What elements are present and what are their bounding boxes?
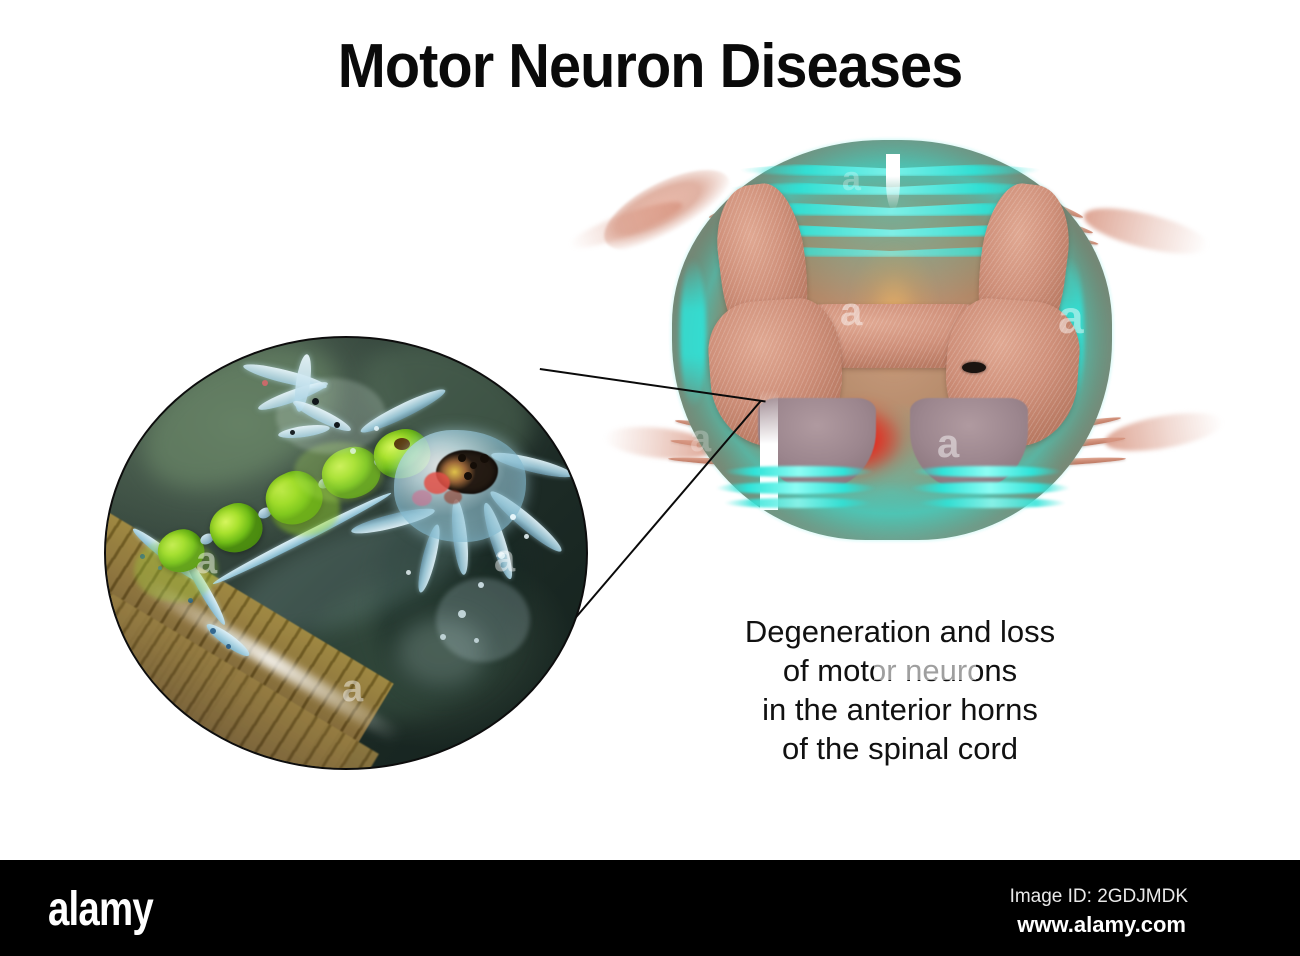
terminal-speckle: [226, 644, 231, 649]
degeneration-particle-cloud: [436, 578, 530, 662]
nerve-root-right-ventral-fade: [1102, 406, 1226, 458]
fragment-speckle: [290, 430, 295, 435]
nerve-root-right-fade: [1080, 199, 1212, 263]
cell-debris-speckle: [474, 638, 479, 643]
grey-matter: [698, 182, 1090, 482]
nucleus-granule: [458, 454, 466, 462]
anterior-tract-band-r1: [912, 466, 1062, 477]
caption-line-4: of the spinal cord: [700, 729, 1100, 768]
nucleus-granule: [470, 462, 477, 469]
fragment-speckle: [312, 398, 319, 405]
cytoplasmic-inclusion: [444, 490, 462, 504]
caption-line-1: Degeneration and loss: [700, 612, 1100, 651]
illustration-canvas: Motor Neuron Diseases: [0, 0, 1300, 956]
cell-debris-speckle: [524, 534, 529, 539]
fragment-speckle: [262, 380, 268, 386]
anterior-tract-band-r2: [910, 482, 1070, 494]
anterior-tract-band-r3: [918, 498, 1066, 508]
page-title: Motor Neuron Diseases: [46, 34, 1255, 99]
anterior-tract-band-l3: [724, 498, 872, 508]
anterior-tract-band-l1: [724, 466, 874, 477]
alamy-logo[interactable]: alamy: [48, 882, 153, 937]
fragment-speckle: [334, 422, 340, 428]
cytoplasmic-inclusion: [412, 490, 432, 506]
caption-block: Degeneration and loss of motor neurons i…: [700, 612, 1100, 768]
cell-debris-speckle: [374, 426, 379, 431]
terminal-speckle: [210, 628, 216, 634]
cell-debris-speckle: [458, 610, 466, 618]
central-canal: [962, 362, 986, 373]
caption-line-3: in the anterior horns: [700, 690, 1100, 729]
magnified-neuron-circle: a a a a: [104, 336, 588, 770]
image-id-label: Image ID: 2GDJMDK: [1010, 886, 1188, 908]
nucleus-granule: [480, 454, 489, 463]
cell-debris-speckle: [478, 582, 484, 588]
inset-circle-frame: a a a a: [104, 336, 588, 770]
nucleus-granule: [464, 472, 472, 480]
cell-debris-speckle: [510, 514, 516, 520]
cell-debris-speckle: [406, 570, 411, 575]
cell-debris-speckle: [350, 448, 356, 454]
myelin-segment-2: [203, 496, 269, 560]
footer-bar: alamy Image ID: 2GDJMDK www.alamy.com: [0, 860, 1300, 956]
alamy-url[interactable]: www.alamy.com: [1017, 912, 1186, 938]
caption-line-2: of motor neurons: [700, 651, 1100, 690]
degeneration-particle-cloud: [134, 538, 218, 602]
cell-debris-speckle: [498, 552, 505, 559]
anterior-tract-band-l2: [716, 482, 876, 494]
spinal-cord-cross-section: a a a a a: [612, 130, 1232, 570]
cell-debris-speckle: [440, 634, 446, 640]
